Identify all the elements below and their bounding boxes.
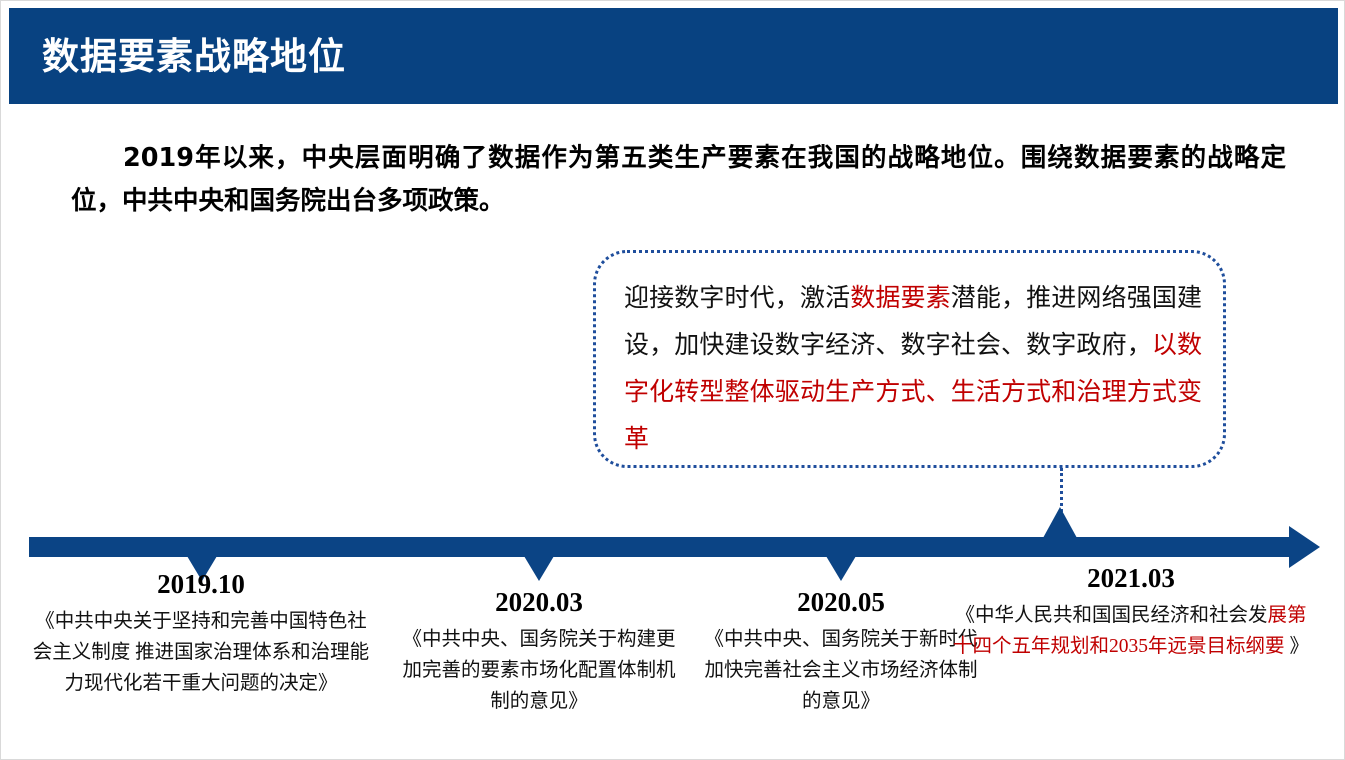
timeline-caption: 《中共中央、国务院关于新时代加快完善社会主义市场经济体制的意见》: [696, 624, 986, 717]
callout-box: 迎接数字时代，激活数据要素潜能，推进网络强国建设，加快建设数字经济、数字社会、数…: [593, 250, 1226, 468]
callout-text: 迎接数字时代，激活数据要素潜能，推进网络强国建设，加快建设数字经济、数字社会、数…: [624, 275, 1202, 463]
timeline-date-label: 2021.03: [946, 563, 1316, 594]
callout-segment-1: 迎接数字时代，激活: [624, 285, 850, 312]
timeline-tick-2020-05: [826, 556, 856, 581]
timeline-caption-tail: 》: [1285, 636, 1309, 657]
timeline-entry-2019-10: 2019.10 《中共中央关于坚持和完善中国特色社会主义制度 推进国家治理体系和…: [26, 569, 376, 699]
callout-segment-2-highlight: 数据要素: [850, 285, 951, 312]
page-title: 数据要素战略地位: [42, 38, 346, 75]
timeline-caption: 《中共中央关于坚持和完善中国特色社会主义制度 推进国家治理体系和治理能力现代化若…: [26, 606, 376, 699]
slide: 数据要素战略地位 2019年以来，中央层面明确了数据作为第五类生产要素在我国的战…: [0, 0, 1345, 760]
timeline-entry-2021-03: 2021.03 《中华人民共和国国民经济和社会发展第十四个五年规划和2035年远…: [946, 563, 1316, 662]
timeline-date-label: 2019.10: [26, 569, 376, 600]
timeline-caption-black: 《中华人民共和国国民经济和社会发: [955, 605, 1267, 626]
title-banner: 数据要素战略地位: [9, 8, 1338, 104]
timeline-date-label: 2020.05: [696, 587, 986, 618]
timeline-date-label: 2020.03: [394, 587, 684, 618]
timeline-caption: 《中华人民共和国国民经济和社会发展第十四个五年规划和2035年远景目标纲要 》: [946, 600, 1316, 662]
timeline-entry-2020-05: 2020.05 《中共中央、国务院关于新时代加快完善社会主义市场经济体制的意见》: [696, 587, 986, 717]
timeline-entry-2020-03: 2020.03 《中共中央、国务院关于构建更加完善的要素市场化配置体制机制的意见…: [394, 587, 684, 717]
intro-paragraph: 2019年以来，中央层面明确了数据作为第五类生产要素在我国的战略地位。围绕数据要…: [71, 137, 1286, 223]
timeline-arrow-head-icon: [1289, 526, 1320, 568]
timeline-tick-2020-03: [524, 556, 554, 581]
timeline-caption: 《中共中央、国务院关于构建更加完善的要素市场化配置体制机制的意见》: [394, 624, 684, 717]
timeline-tick-2021-03: [1043, 507, 1077, 538]
timeline-bar: [29, 537, 1291, 557]
